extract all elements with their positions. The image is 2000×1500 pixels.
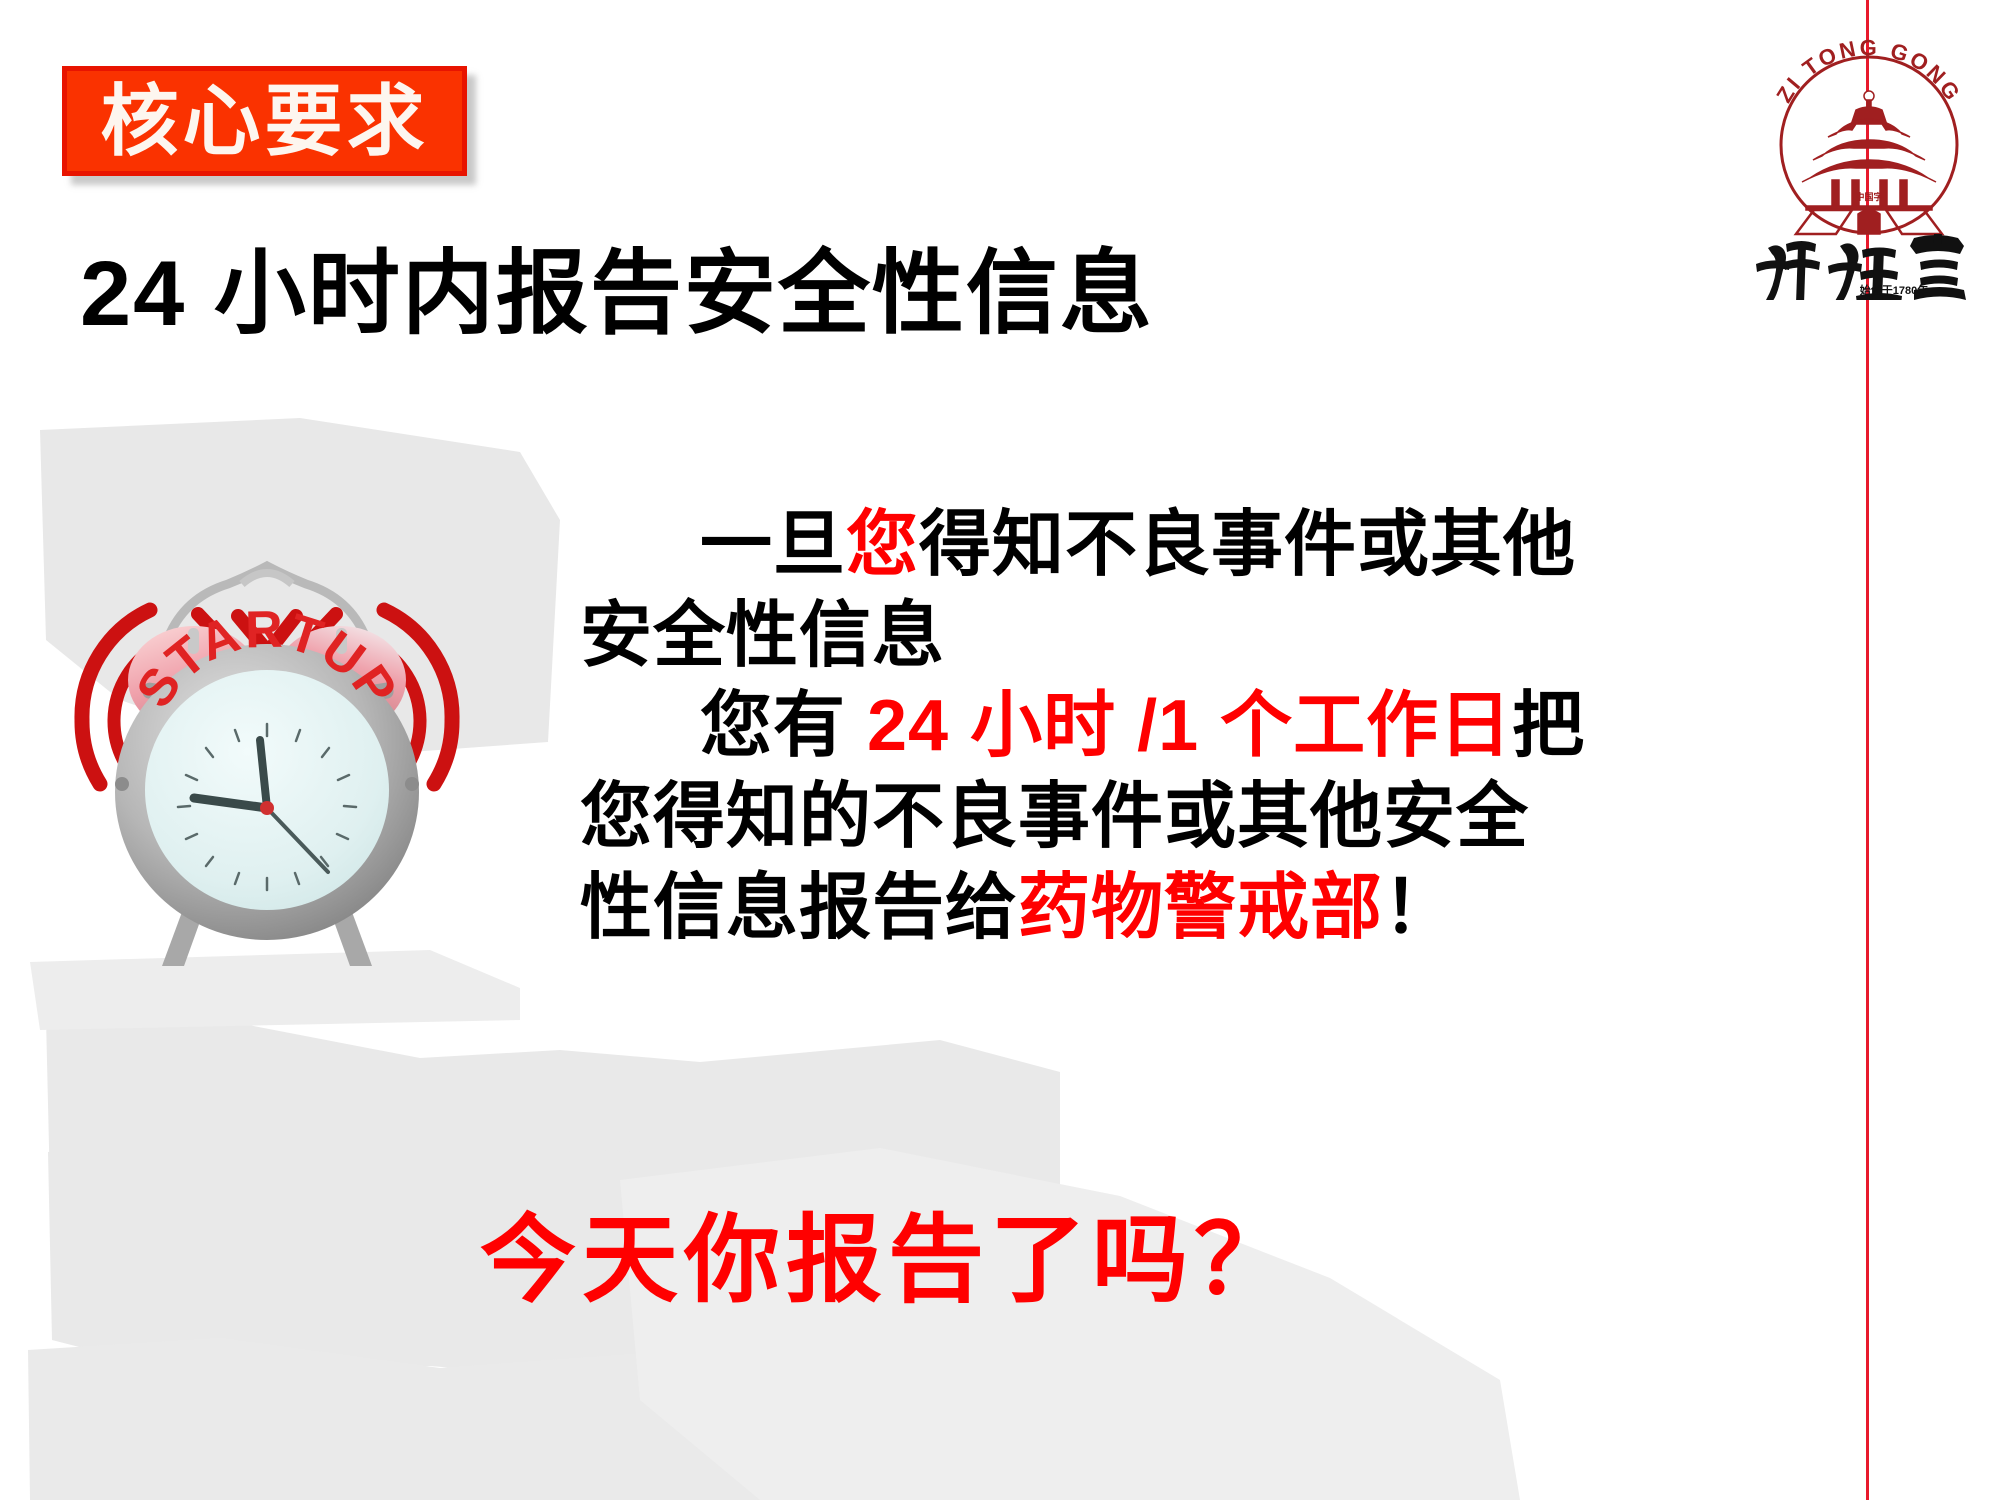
- watermark-shape-bottom: [28, 1338, 1060, 1500]
- body-text-run: 性信息报告给: [580, 868, 1018, 948]
- body-text-run: 一旦: [700, 505, 846, 585]
- body-emphasis: 您: [846, 505, 919, 585]
- slide-title: 24 小时内报告安全性信息: [80, 243, 1480, 346]
- body-text-run: ！: [1383, 868, 1456, 948]
- closing-slogan: 今天你报告了吗？: [480, 1208, 1680, 1314]
- pagoda-icon: [1796, 91, 1942, 234]
- logo-founded-line: 始创于1780年: [1860, 283, 1928, 297]
- body-text-run: 把: [1512, 686, 1585, 766]
- body-line: 安全性信息: [580, 591, 1810, 682]
- body-paragraph: 一旦您得知不良事件或其他安全性信息您有 24 小时 /1 个工作日把您得知的不良…: [580, 500, 1810, 954]
- body-text-run: 您有: [700, 686, 867, 766]
- body-emphasis: 药物警戒部: [1018, 868, 1383, 948]
- watermark-shape-mid: [46, 1008, 1060, 1240]
- body-text-run: 您得知的不良事件或其他安全: [580, 777, 1529, 857]
- body-emphasis: 24 小时 /1 个工作日: [867, 686, 1512, 766]
- seal-inner-mark: 中国字: [1855, 191, 1882, 202]
- watermark-shape-right: [620, 1148, 1520, 1500]
- body-line: 性信息报告给药物警戒部！: [580, 863, 1810, 954]
- core-requirement-badge: 核心要求: [62, 66, 467, 176]
- body-text-run: 安全性信息: [580, 596, 945, 676]
- brand-logo: ZI TONG GONG: [1744, 38, 1994, 300]
- body-text-run: 得知不良事件或其他: [919, 505, 1576, 585]
- slide-canvas: 核心要求 ZI TONG GONG: [0, 0, 2000, 1500]
- alarm-clock-illustration: STARTUP: [42, 492, 492, 972]
- core-requirement-badge-label: 核心要求: [100, 82, 428, 160]
- body-line: 您有 24 小时 /1 个工作日把: [580, 681, 1810, 772]
- body-line: 一旦您得知不良事件或其他: [580, 500, 1810, 591]
- body-line: 您得知的不良事件或其他安全: [580, 772, 1810, 863]
